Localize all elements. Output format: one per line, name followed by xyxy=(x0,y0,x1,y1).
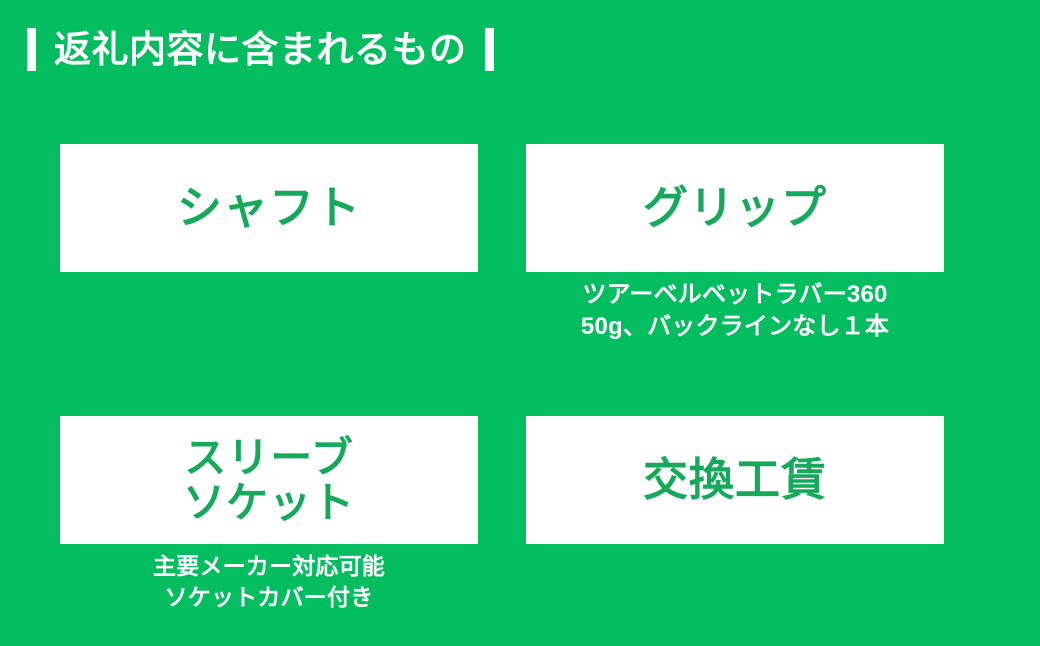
content-card-sleeve-socket: スリーブ ソケット xyxy=(60,416,478,544)
content-card-replacement-fee: 交換工賃 xyxy=(526,416,944,544)
content-card-label: グリップ xyxy=(643,184,827,232)
vertical-bar-icon-right xyxy=(485,28,494,71)
content-card-label: シャフト xyxy=(177,184,361,232)
content-card-caption: 主要メーカー対応可能 ソケットカバー付き xyxy=(60,551,478,613)
vertical-bar-icon-left xyxy=(27,28,36,71)
content-card-label: スリーブ ソケット xyxy=(183,435,355,526)
content-card-label: 交換工賃 xyxy=(643,456,827,504)
page-title-text: 返礼内容に含まれるもの xyxy=(54,31,467,68)
page-title: 返礼内容に含まれるもの xyxy=(27,22,494,76)
content-item-shaft: シャフト xyxy=(60,144,478,279)
content-item-replacement-fee: 交換工賃 xyxy=(526,416,944,551)
reward-contents-poster: 返礼内容に含まれるもの シャフト グリップ ツアーベルベットラバー360 50g… xyxy=(0,0,1040,646)
content-item-grip: グリップ ツアーベルベットラバー360 50g、バックラインなし１本 xyxy=(526,144,944,343)
content-card-caption: ツアーベルベットラバー360 50g、バックラインなし１本 xyxy=(526,279,944,343)
content-card-grip: グリップ xyxy=(526,144,944,272)
content-card-shaft: シャフト xyxy=(60,144,478,272)
content-item-sleeve-socket: スリーブ ソケット 主要メーカー対応可能 ソケットカバー付き xyxy=(60,416,478,613)
